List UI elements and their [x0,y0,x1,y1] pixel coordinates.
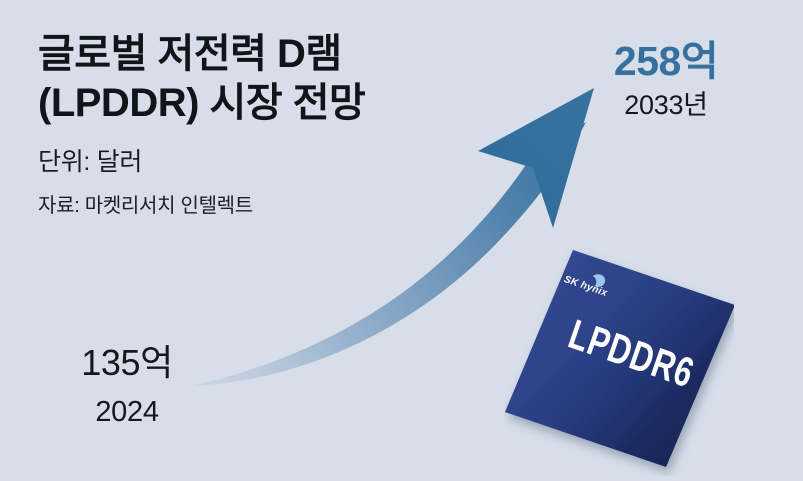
sk-hynix-logo: SK hynix [562,264,612,299]
title-line-2: (LPDDR) 시장 전망 [38,79,468,128]
page-title: 글로벌 저전력 D램 (LPDDR) 시장 전망 단위: 달러 자료: 마켓리서… [38,30,468,218]
start-point-label: 135억 2024 [62,343,192,428]
start-point-value: 135억 [62,343,192,383]
end-point-year: 2033년 [581,91,751,121]
start-point-year: 2024 [62,397,192,429]
unit-label: 단위: 달러 [38,142,468,178]
arrow-head [478,88,594,228]
chip-product-label: LPDDR6 [563,311,700,397]
sk-hynix-logo-text: SK hynix [562,274,608,299]
end-point-label: 258억 2033년 [581,40,751,121]
chip-body [505,250,734,467]
title-line-1: 글로벌 저전력 D램 [38,30,468,79]
source-label: 자료: 마켓리서치 인텔렉트 [38,189,468,218]
end-point-value: 258억 [581,40,751,83]
memory-chip-image: SK hynix LPDDR6 [504,246,734,476]
chip-product-text: LPDDR6 [563,311,700,397]
infographic-root: 글로벌 저전력 D램 (LPDDR) 시장 전망 단위: 달러 자료: 마켓리서… [0,0,803,481]
chip-sheen [505,250,734,467]
